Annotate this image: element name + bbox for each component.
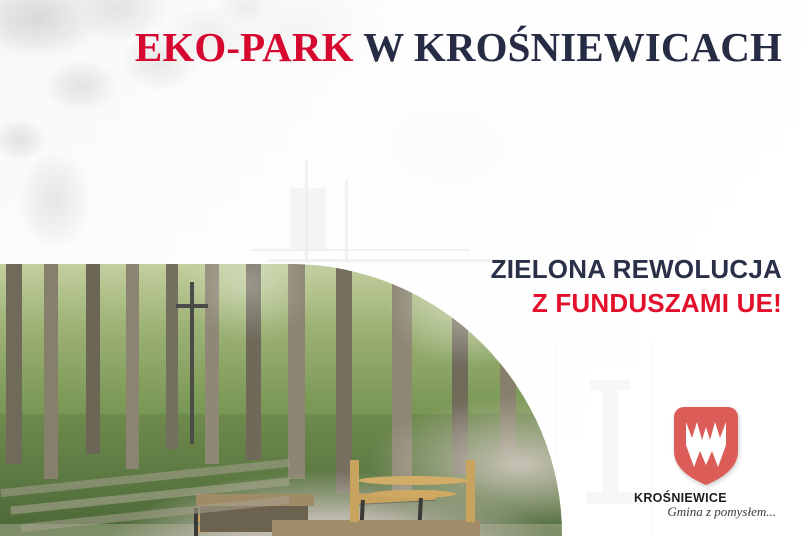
paving-stones <box>0 474 300 536</box>
logo-municipality-name: KROŚNIEWICE <box>632 491 780 505</box>
title-rest: W KROŚNIEWICACH <box>354 24 782 70</box>
title-highlight: EKO-PARK <box>135 24 354 70</box>
lamp-post-far <box>190 282 194 310</box>
logo-tagline: Gmina z pomysłem... <box>632 504 780 520</box>
coat-of-arms-shield-icon <box>674 407 738 485</box>
krosniewice-logo: KROŚNIEWICE Gmina z pomysłem... <box>632 407 780 520</box>
eko-park-promo-banner: EKO-PARK W KROŚNIEWICACH ZIELONA REWOLUC… <box>0 0 804 536</box>
wooden-arch-structure <box>350 460 480 530</box>
page-title: EKO-PARK W KROŚNIEWICACH <box>0 27 782 68</box>
lamp-post <box>190 304 194 444</box>
park-photo <box>0 264 562 536</box>
